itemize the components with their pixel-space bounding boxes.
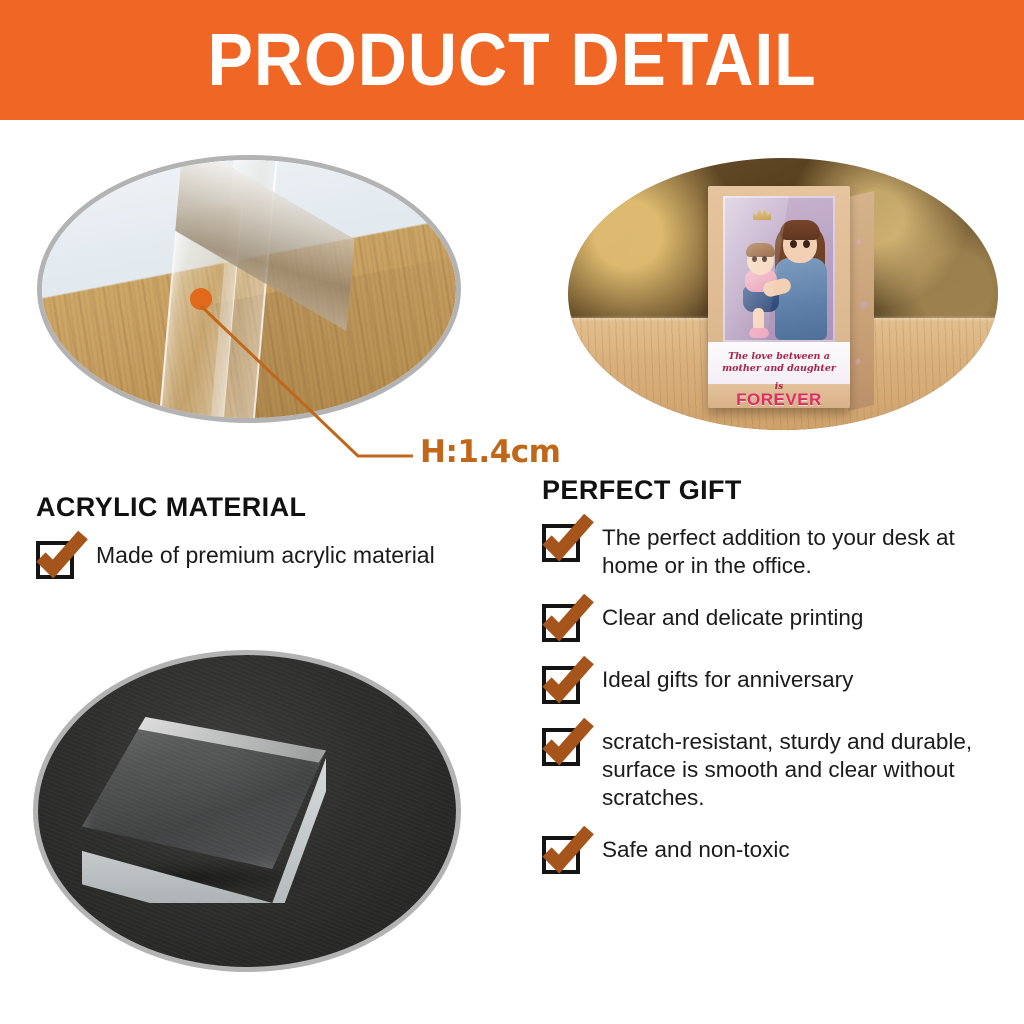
- box-text-line-1: The love between a: [728, 351, 830, 363]
- section-title-gift: PERFECT GIFT: [542, 475, 1012, 506]
- gift-box: The love between a mother and daughter i…: [708, 186, 850, 408]
- dimension-marker-dot: [190, 288, 212, 310]
- box-text-line-4: FOREVER: [708, 390, 850, 408]
- checkmark-icon: [34, 529, 90, 585]
- mother-eye-right: [803, 240, 810, 248]
- header-banner: PRODUCT DETAIL: [0, 0, 1024, 120]
- list-item: Clear and delicate printing: [542, 602, 1012, 642]
- list-item-label: Safe and non-toxic: [602, 834, 790, 864]
- list-item: Safe and non-toxic: [542, 834, 1012, 874]
- gift-box-side-panel: [848, 191, 874, 411]
- mother-fringe: [780, 220, 820, 240]
- section-acrylic-material: ACRYLIC MATERIAL Made of premium acrylic…: [36, 492, 536, 601]
- photo-acrylic-edge-thickness: [42, 160, 456, 418]
- box-text-line-2: mother and daughter: [722, 363, 836, 375]
- checkbox-checked[interactable]: [542, 666, 580, 704]
- list-item: Ideal gifts for anniversary: [542, 664, 1012, 704]
- page-title: PRODUCT DETAIL: [207, 23, 816, 97]
- checkmark-icon: [540, 512, 596, 568]
- gift-box-clear-window: [723, 196, 835, 342]
- photo-boxed-product: The love between a mother and daughter i…: [568, 158, 998, 430]
- scene-wood-floor: [42, 160, 456, 418]
- photo-acrylic-flat-block: [38, 655, 456, 967]
- mother-eye-left: [790, 240, 797, 248]
- mother-body: [775, 258, 827, 340]
- scene-slate-surface: [38, 655, 456, 967]
- checkmark-icon: [540, 654, 596, 710]
- list-item-label: Made of premium acrylic material: [96, 539, 435, 569]
- checkbox-checked[interactable]: [542, 524, 580, 562]
- checkmark-icon: [540, 716, 596, 772]
- list-item-label: Clear and delicate printing: [602, 602, 863, 632]
- section-perfect-gift: PERFECT GIFT The perfect addition to you…: [542, 475, 1012, 896]
- checkmark-icon: [540, 824, 596, 880]
- checkbox-checked[interactable]: [36, 541, 74, 579]
- list-item: scratch-resistant, sturdy and durable, s…: [542, 726, 1012, 812]
- checkbox-checked[interactable]: [542, 728, 580, 766]
- checkbox-checked[interactable]: [542, 604, 580, 642]
- list-item-label: scratch-resistant, sturdy and durable, s…: [602, 726, 1012, 812]
- gift-box-side-pattern: [848, 191, 874, 411]
- checkbox-checked[interactable]: [542, 836, 580, 874]
- gift-box-front-panel: The love between a mother and daughter i…: [708, 186, 850, 408]
- acrylic-square-block: [82, 717, 326, 903]
- product-detail-page: PRODUCT DETAIL H:1.4cm: [0, 0, 1024, 1024]
- list-item: Made of premium acrylic material: [36, 539, 536, 579]
- section-title-acrylic: ACRYLIC MATERIAL: [36, 492, 536, 523]
- gift-box-text-band: The love between a mother and daughter: [708, 342, 850, 384]
- list-item: The perfect addition to your desk at hom…: [542, 522, 1012, 580]
- list-item-label: Ideal gifts for anniversary: [602, 664, 853, 694]
- checkmark-icon: [540, 592, 596, 648]
- scene-bokeh-background: The love between a mother and daughter i…: [568, 158, 998, 430]
- dimension-label: H:1.4cm: [420, 434, 560, 470]
- list-item-label: The perfect addition to your desk at hom…: [602, 522, 1012, 580]
